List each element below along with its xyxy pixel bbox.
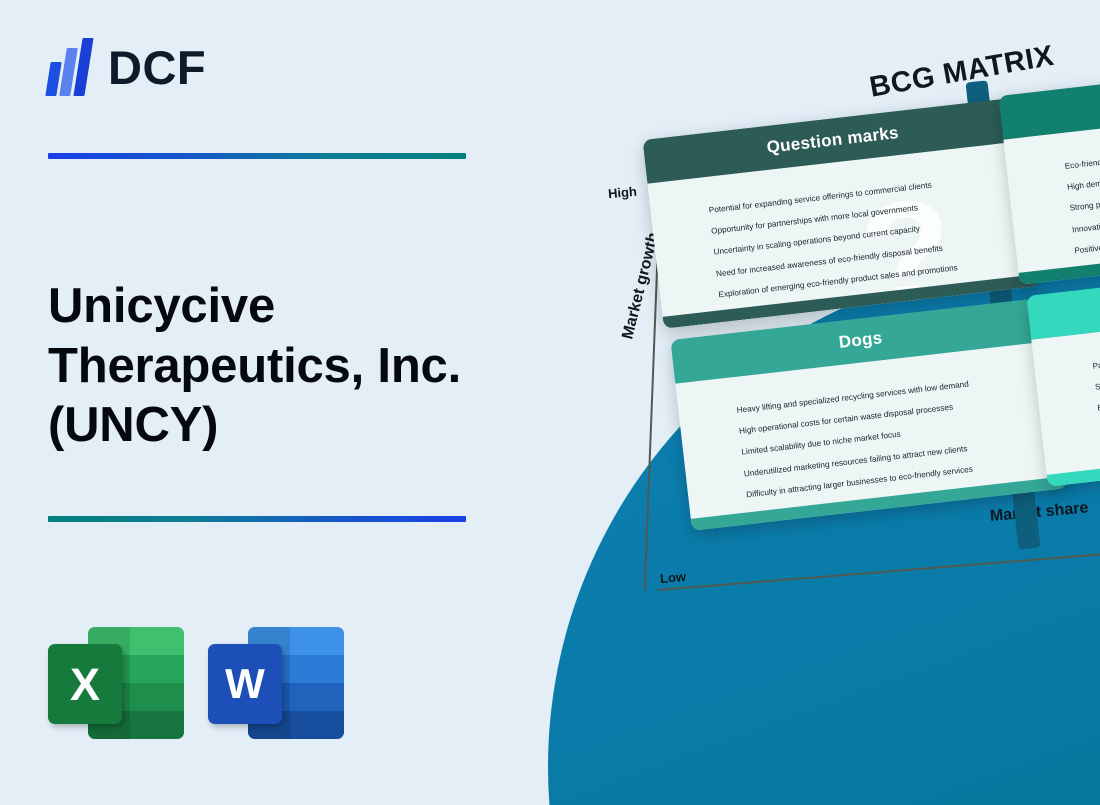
- quadrant-bullet-list: Pay-per-volu Subscription Established Mi…: [1053, 330, 1100, 473]
- axis-label-low: Low: [659, 569, 686, 586]
- left-panel: DCF Unicycive Therapeutics, Inc. (UNCY) …: [0, 0, 560, 805]
- list-item: Positive customer: [1074, 214, 1100, 255]
- divider-bottom: [48, 516, 466, 522]
- brand-logo[interactable]: DCF: [48, 38, 206, 96]
- list-item: Subscription: [1095, 351, 1100, 392]
- download-formats: X W: [48, 618, 344, 740]
- page-title: Unicycive Therapeutics, Inc. (UNCY): [48, 277, 528, 456]
- list-item: Strong partnerships: [1069, 172, 1100, 213]
- axis-label-high: High: [607, 184, 637, 201]
- dcf-bars-logo-icon: [48, 38, 94, 96]
- brand-name: DCF: [108, 44, 206, 91]
- quadrant-title: Question marks: [766, 123, 900, 158]
- list-item: High demand among: [1067, 151, 1100, 192]
- bcg-matrix-illustration: BCG MATRIX High Low Market growth Market…: [540, 0, 1100, 805]
- excel-letter: X: [70, 662, 100, 707]
- axis-label-market-share: Market share: [989, 499, 1089, 526]
- x-axis-line: [658, 547, 1100, 591]
- excel-file-icon[interactable]: X: [48, 618, 184, 740]
- word-letter: W: [225, 663, 265, 705]
- excel-badge: X: [48, 644, 122, 724]
- list-item: Heavy lifting and specialized recycling …: [736, 372, 1043, 415]
- list-item: Pay-per-volu: [1092, 330, 1100, 371]
- quadrant-title: Dogs: [838, 328, 884, 353]
- word-file-icon[interactable]: W: [208, 618, 344, 740]
- logo-bar-3: [73, 38, 93, 96]
- slide-canvas: BCG MATRIX High Low Market growth Market…: [0, 0, 1100, 805]
- list-item: Innovative marketing: [1072, 193, 1100, 234]
- quadrant-bullet-list: Eco-friendly junk removal High demand am…: [1025, 130, 1100, 273]
- divider-top: [48, 153, 466, 159]
- list-item: Eco-friendly junk removal: [1064, 130, 1100, 171]
- word-badge: W: [208, 644, 282, 724]
